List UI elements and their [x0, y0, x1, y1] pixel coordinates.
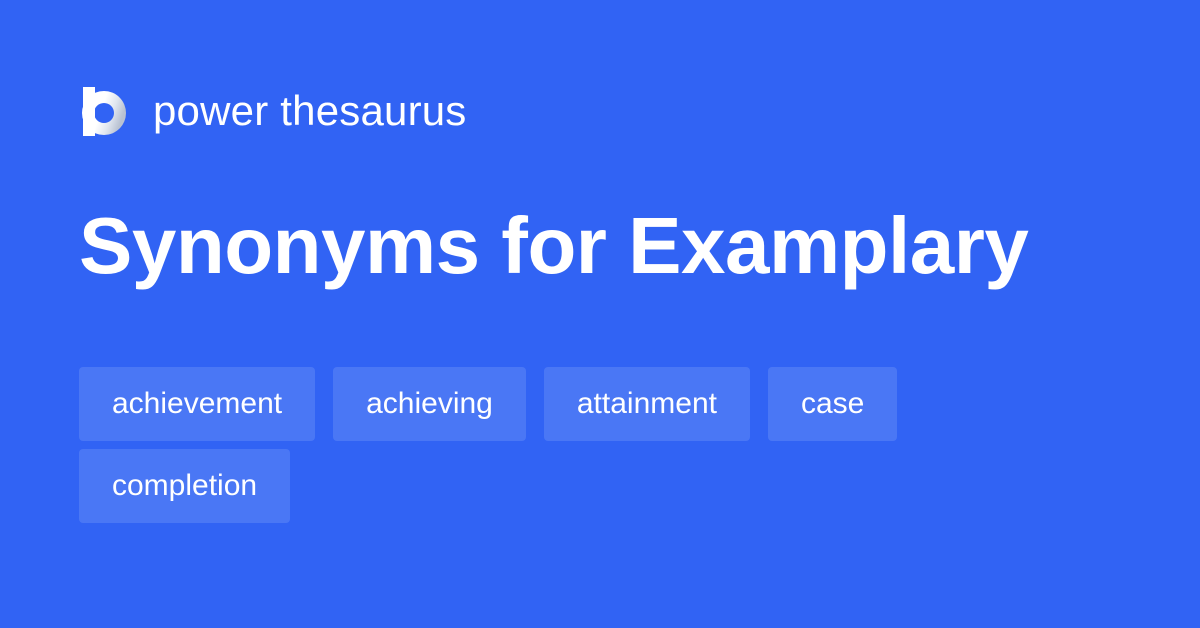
synonym-chip[interactable]: achievement: [79, 367, 315, 441]
synonym-chip[interactable]: completion: [79, 449, 290, 523]
synonym-chip[interactable]: achieving: [333, 367, 526, 441]
synonym-chip[interactable]: case: [768, 367, 897, 441]
synonym-chip[interactable]: attainment: [544, 367, 750, 441]
brand-logo[interactable]: power thesaurus: [79, 80, 467, 142]
page-title: Synonyms for Examplary: [79, 198, 1028, 294]
power-thesaurus-b-logo-icon: [79, 83, 131, 139]
brand-name: power thesaurus: [153, 90, 467, 132]
synonym-chip-list: achievement achieving attainment case co…: [79, 367, 1119, 523]
page-root: power thesaurus Synonyms for Examplary a…: [0, 0, 1200, 628]
